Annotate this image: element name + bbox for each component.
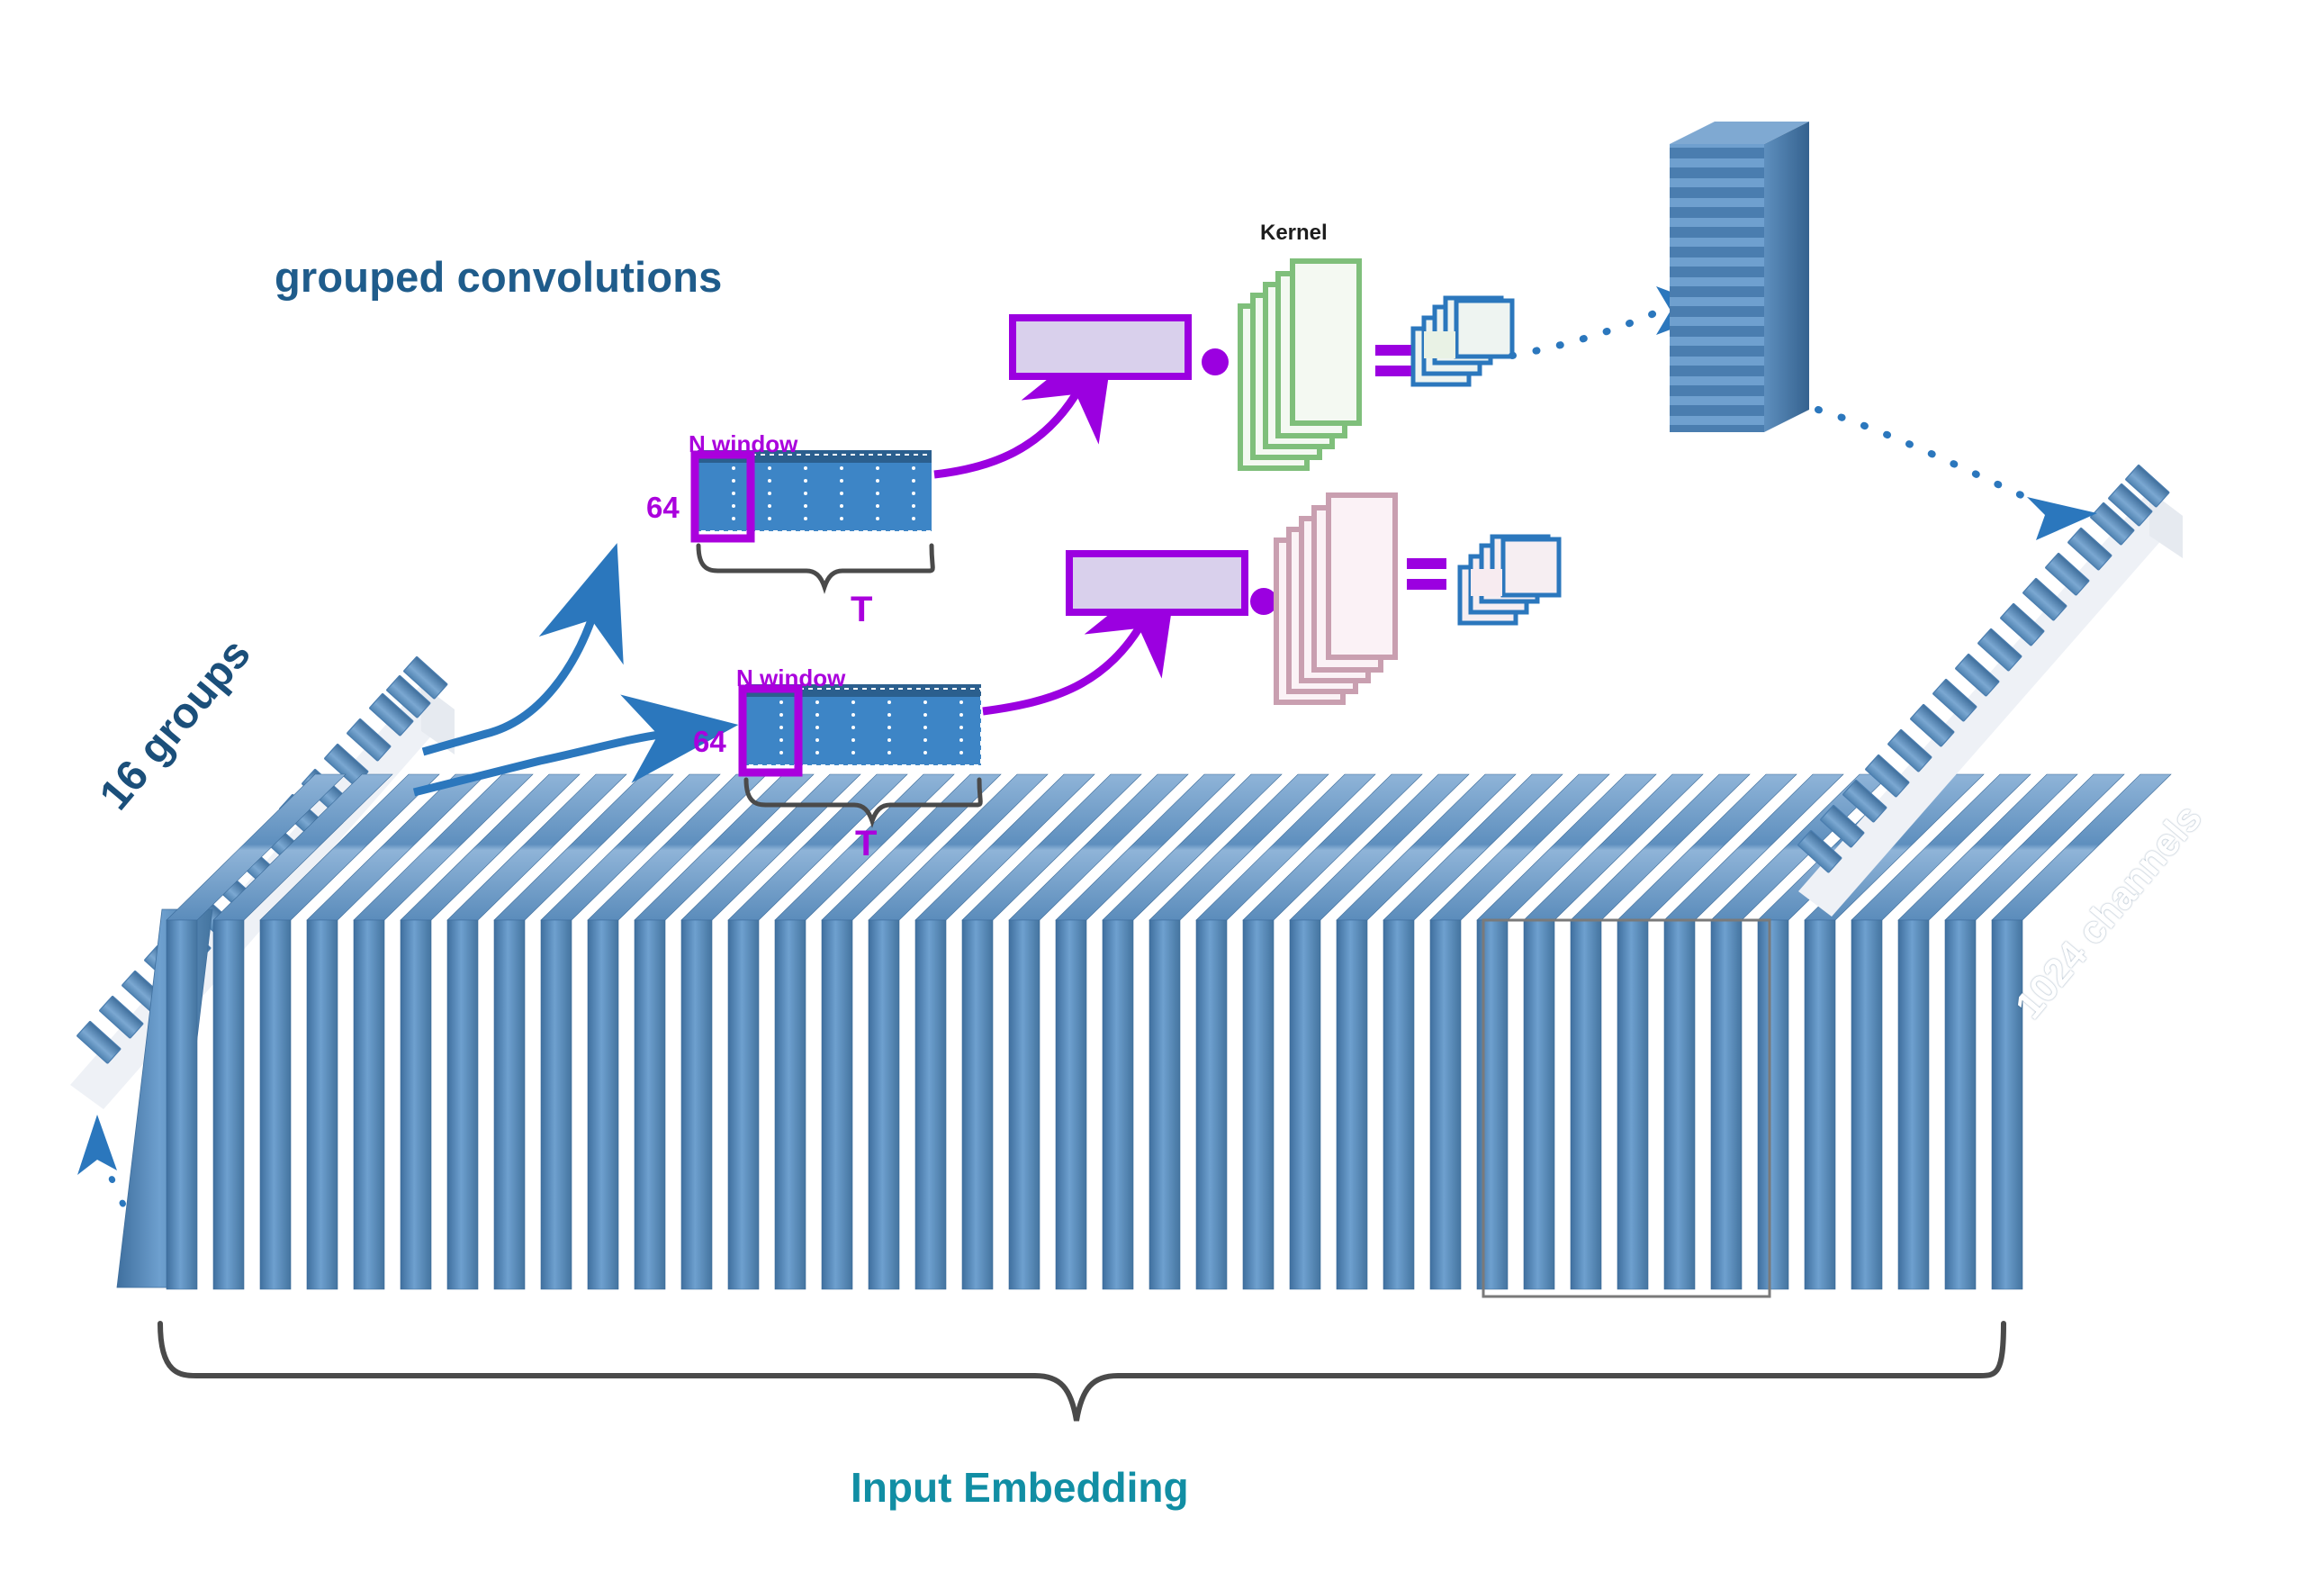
vector-box-1 — [1013, 318, 1188, 376]
embedding-slice-front — [915, 920, 946, 1289]
kernel-stack-pink — [1276, 495, 1395, 702]
result-stack-1 — [1413, 298, 1512, 384]
embedding-slice-front — [260, 920, 291, 1289]
embedding-slice-front — [1851, 920, 1882, 1289]
kernel-stack-green — [1240, 261, 1359, 468]
embedding-slice-front — [1103, 920, 1133, 1289]
embedding-slice-front — [588, 920, 618, 1289]
embedding-slice-front — [1337, 920, 1367, 1289]
dotted-arrow-prism-to-output — [1818, 410, 2097, 540]
equals-operator-2 — [1407, 558, 1446, 590]
arrow-window1-to-vector — [934, 387, 1080, 474]
embedding-slice-front — [541, 920, 572, 1289]
diagram-canvas: grouped convolutions 16 groups 1024 chan… — [0, 0, 2324, 1590]
dot-operator-1 — [1202, 348, 1229, 375]
n-window-label-1: N window — [689, 430, 797, 458]
time-brace-label-2: T — [855, 824, 877, 864]
embedding-slice-front — [1430, 920, 1461, 1289]
result-stack-2 — [1460, 537, 1559, 623]
embedding-slice-front — [1992, 920, 2022, 1289]
embedding-slice-front — [1149, 920, 1180, 1289]
embedding-slice-front — [1664, 920, 1695, 1289]
page-title: grouped convolutions — [275, 252, 722, 302]
embedding-slice-front — [354, 920, 384, 1289]
time-brace-label-1: T — [851, 590, 872, 630]
embedding-slice-front — [1524, 920, 1554, 1289]
arrow-window2-to-vector — [983, 621, 1143, 711]
embedding-slice-front — [635, 920, 665, 1289]
kernel-label: Kernel — [1260, 221, 1328, 246]
embedding-slice-front — [775, 920, 806, 1289]
embedding-slice-front — [1243, 920, 1274, 1289]
embedding-slice-front — [1477, 920, 1508, 1289]
channels-per-group-label-1: 64 — [646, 491, 680, 525]
embedding-slice-front — [681, 920, 712, 1289]
vector-box-2 — [1069, 554, 1245, 612]
embedding-slice-front — [167, 920, 197, 1289]
embedding-slice-front — [1571, 920, 1601, 1289]
embedding-slice-front — [1056, 920, 1086, 1289]
embedding-slice-front — [962, 920, 993, 1289]
embedding-slice-front — [1898, 920, 1929, 1289]
embedding-slice-front — [869, 920, 899, 1289]
embedding-slice-front — [1805, 920, 1835, 1289]
input-embedding-label: Input Embedding — [851, 1463, 1189, 1512]
window-strip-1 — [695, 450, 933, 538]
embedding-slice-front — [213, 920, 244, 1289]
equals-operator-1 — [1375, 345, 1415, 376]
dot-operator-2 — [1250, 588, 1277, 615]
embedding-slice-front — [1196, 920, 1227, 1289]
embedding-slice-front — [1290, 920, 1320, 1289]
output-prism-block — [1670, 0, 1809, 432]
embedding-slice-front — [401, 920, 431, 1289]
embedding-slice-front — [728, 920, 759, 1289]
embedding-slice-front — [822, 920, 852, 1289]
brace-input-embedding — [160, 1323, 2004, 1421]
embedding-slice-front — [1383, 920, 1414, 1289]
embedding-slice-front — [1711, 920, 1742, 1289]
channels-per-group-label-2: 64 — [693, 725, 726, 759]
embedding-slice-front — [307, 920, 338, 1289]
window-strip-2 — [743, 684, 981, 772]
embedding-slice-front — [1617, 920, 1648, 1289]
brace-T-1 — [698, 546, 932, 587]
embedding-slice-front — [1945, 920, 1976, 1289]
embedding-slice-front — [1009, 920, 1040, 1289]
diagram-svg — [0, 0, 2324, 1590]
n-window-label-2: N window — [736, 664, 845, 692]
embedding-slice-front — [1758, 920, 1788, 1289]
embedding-slice-front — [494, 920, 525, 1289]
embedding-slice-front — [447, 920, 478, 1289]
